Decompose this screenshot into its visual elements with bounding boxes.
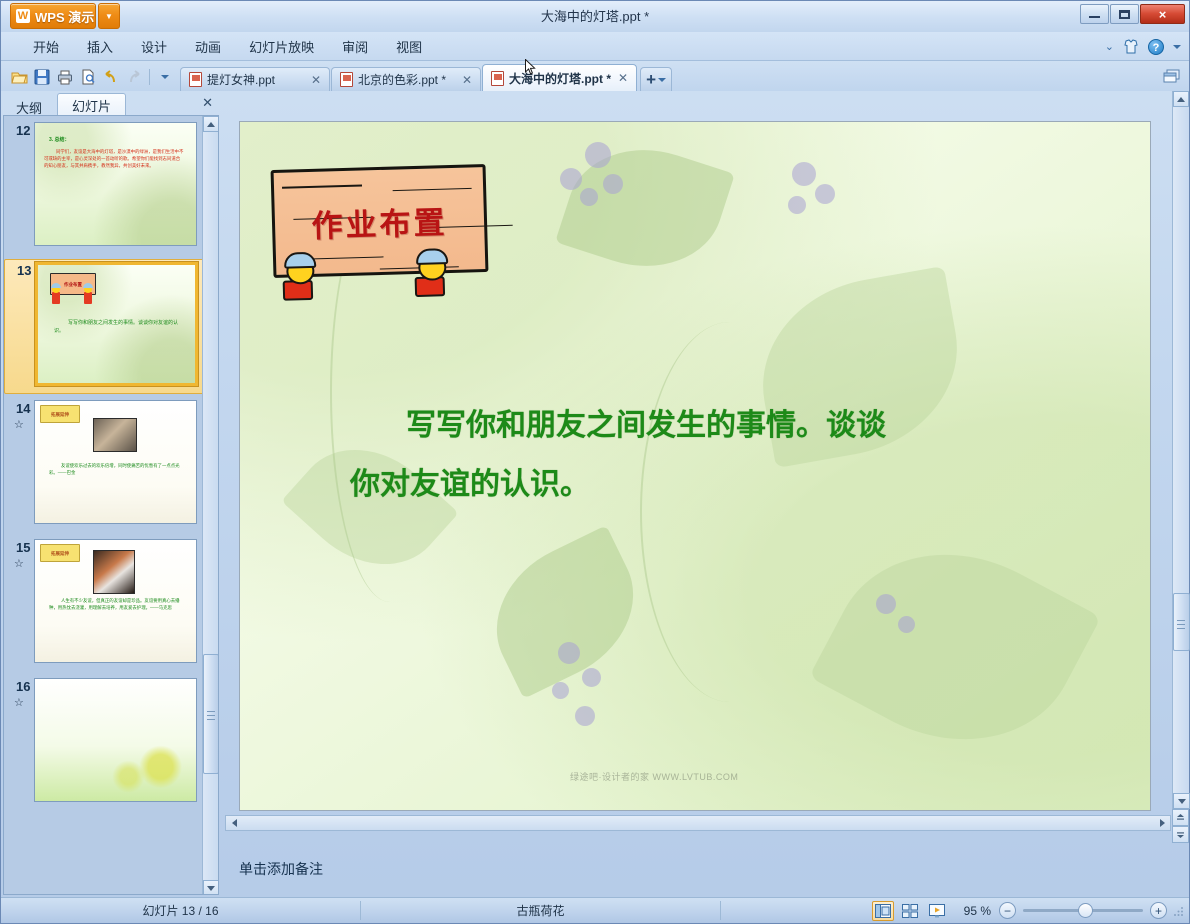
ppt-file-icon <box>189 72 202 87</box>
slide-vertical-scrollbar[interactable] <box>1172 91 1189 843</box>
view-buttons <box>872 901 948 921</box>
dropdown-arrow-icon[interactable] <box>1173 45 1181 49</box>
theme-name: 古瓶荷花 <box>361 901 721 920</box>
grape-decor-icon <box>585 142 611 168</box>
new-tab-dropdown-icon[interactable] <box>658 78 666 82</box>
slide-nav-buttons <box>1172 809 1189 843</box>
open-icon[interactable] <box>9 67 29 87</box>
zoom-level-label: 95 % <box>964 904 991 918</box>
wps-brand-label: WPS 演示 <box>35 7 94 26</box>
grape-decor-icon <box>815 184 835 204</box>
thumbnail-body: 写写你和朋友之间发生的事情。谈谈你对友谊的认识。 <box>54 320 184 336</box>
scroll-down-button[interactable] <box>203 880 219 895</box>
thumbnail-kid-right-icon <box>84 292 92 304</box>
slide-sorter-view-icon <box>902 904 918 918</box>
window-controls: × <box>1080 4 1185 24</box>
thumbnail-photo <box>93 550 135 594</box>
leaf-decor-icon <box>471 525 658 699</box>
menu-items: 开始 插入 设计 动画 幻灯片放映 审阅 视图 <box>1 32 1189 61</box>
thumbnail-animation-icon: ☆ <box>14 559 24 570</box>
maximize-button[interactable] <box>1110 4 1139 24</box>
scrollbar-thumb[interactable] <box>1173 593 1190 651</box>
slide-sorter-view-button[interactable] <box>899 901 921 921</box>
menu-item-insert[interactable]: 插入 <box>73 33 127 60</box>
grape-decor-icon <box>558 642 580 664</box>
minimize-button[interactable] <box>1080 4 1109 24</box>
triangle-up-icon <box>207 122 215 127</box>
document-tab-3[interactable]: 大海中的灯塔.ppt * ✕ <box>482 64 637 91</box>
print-icon[interactable] <box>55 67 75 87</box>
thumbnail-body: 友谊使欢乐过去的欢乐倍增，同时使痛苦的忧愁有了一点点光彩。——巴金 <box>49 463 183 477</box>
thumbnail-body: 人生有不少友谊，但真正的友谊却是珍品。友谊要用真心去播种，用热忱去浇灌，用理解去… <box>49 598 183 612</box>
close-pane-icon[interactable]: ✕ <box>202 95 213 111</box>
slides-pane-scrollbar[interactable] <box>202 116 218 895</box>
mouse-cursor-icon <box>525 59 536 75</box>
tab-slides[interactable]: 幻灯片 <box>57 93 126 117</box>
slide-watermark: 绿途吧·设计者的家 WWW.LVTUB.COM <box>570 770 800 784</box>
slide-body-textbox[interactable]: 写写你和朋友之间发生的事情。谈谈 你对友谊的认识。 <box>350 397 1050 514</box>
thumbnail-heading: 3. 总结： <box>49 136 70 143</box>
thumbnail-item-16[interactable]: 16 ☆ <box>4 676 204 811</box>
thumbnail-number: 15 <box>16 540 30 555</box>
new-tab-button[interactable]: + <box>640 67 672 91</box>
notes-placeholder: 单击添加备注 <box>239 859 323 879</box>
document-tab-3-close-icon[interactable]: ✕ <box>616 71 630 85</box>
thumbnail-sign: 拓展延伸 <box>40 544 80 562</box>
thumbnail-item-12[interactable]: 12 3. 总结： 同学们，友谊是大海中的灯塔，是沙漠中的绿洲，是我们生活中不可… <box>4 120 204 255</box>
next-slide-button[interactable] <box>1172 826 1189 843</box>
grape-decor-icon <box>580 188 598 206</box>
thumbnail-animation-icon: ☆ <box>14 420 24 431</box>
menu-item-review[interactable]: 审阅 <box>328 33 382 60</box>
kid-right-icon <box>416 248 451 297</box>
menu-item-design[interactable]: 设计 <box>127 33 181 60</box>
thumbnail-sign: 拓展延伸 <box>40 405 80 423</box>
scroll-up-button[interactable] <box>203 116 219 132</box>
plus-icon: + <box>646 73 656 87</box>
undo-icon[interactable] <box>101 67 121 87</box>
normal-view-icon <box>875 904 891 918</box>
triangle-right-icon <box>1160 819 1165 827</box>
thumbnail-preview: 3. 总结： 同学们，友谊是大海中的灯塔，是沙漠中的绿洲，是我们生活中不可或缺的… <box>34 122 197 246</box>
customize-quick-access-icon[interactable] <box>155 67 175 87</box>
wps-brand-button[interactable]: W WPS 演示 <box>10 3 96 29</box>
thumbnail-kid-left-icon <box>52 292 60 304</box>
grape-decor-icon <box>575 706 595 726</box>
previous-slide-button[interactable] <box>1172 809 1189 826</box>
grape-decor-icon <box>582 668 601 687</box>
grape-decor-icon <box>560 168 582 190</box>
scroll-right-button[interactable] <box>1154 816 1170 830</box>
title-bar: 大海中的灯塔.ppt * W WPS 演示 ▼ × <box>1 1 1189 32</box>
wps-logo-icon: W <box>16 9 30 23</box>
slide-body-line-1: 写写你和朋友之间发生的事情。谈谈 <box>350 397 1050 456</box>
close-icon: × <box>1159 7 1167 22</box>
wps-menu-dropdown-icon[interactable]: ▼ <box>98 3 120 29</box>
thumbnail-item-15[interactable]: 15 ☆ 拓展延伸 人生有不少友谊，但真正的友谊却是珍品。友谊要用真心去播种，用… <box>4 537 204 672</box>
zoom-slider-handle[interactable] <box>1078 903 1093 918</box>
slide-editing-area: 作业布置 写写你和朋友之间发生的事情。谈谈 你对友谊的认识。 绿途吧·设计者的家… <box>225 91 1189 843</box>
document-tab-2[interactable]: 北京的色彩.ppt * ✕ <box>331 67 481 91</box>
thumbnail-number: 14 <box>16 401 30 416</box>
slide-body-line-2: 你对友谊的认识。 <box>350 456 1050 515</box>
close-button[interactable]: × <box>1140 4 1185 24</box>
thumbnail-preview: 拓展延伸 人生有不少友谊，但真正的友谊却是珍品。友谊要用真心去播种，用热忱去浇灌… <box>34 539 197 663</box>
leaf-decor-icon <box>555 128 735 288</box>
document-tab-1-close-icon[interactable]: ✕ <box>309 73 323 87</box>
notes-pane[interactable]: 单击添加备注 <box>225 845 1189 893</box>
slide-counter: 幻灯片 13 / 16 <box>1 901 361 920</box>
zoom-slider[interactable] <box>1023 909 1143 912</box>
status-bar: 幻灯片 13 / 16 古瓶荷花 <box>1 897 1189 923</box>
thumbnail-number: 12 <box>16 123 30 138</box>
document-tab-2-close-icon[interactable]: ✕ <box>460 73 474 87</box>
chevron-down-icon[interactable]: ⌄ <box>1105 40 1114 53</box>
grape-decor-icon <box>898 616 915 633</box>
grape-decor-icon <box>876 594 896 614</box>
document-tab-1[interactable]: 提灯女神.ppt ✕ <box>180 67 330 91</box>
minimize-icon <box>1089 16 1100 18</box>
slides-pane: 大纲 幻灯片 ✕ 12 3. 总结： 同学们，友谊是大海中的灯塔，是沙漠中的绿洲… <box>1 91 221 897</box>
pane-tabs: 大纲 幻灯片 <box>1 91 221 117</box>
thumbnail-items: 12 3. 总结： 同学们，友谊是大海中的灯塔，是沙漠中的绿洲，是我们生活中不可… <box>4 116 204 815</box>
scrollbar-thumb[interactable] <box>203 654 219 774</box>
ppt-file-icon <box>491 71 504 86</box>
skin-icon[interactable] <box>1123 39 1139 54</box>
workspace: 大纲 幻灯片 ✕ 12 3. 总结： 同学们，友谊是大海中的灯塔，是沙漠中的绿洲… <box>1 91 1189 897</box>
menubar-right-icons: ⌄ ? <box>1105 32 1181 61</box>
scroll-left-button[interactable] <box>226 816 242 830</box>
thumbnail-animation-icon: ☆ <box>14 698 24 709</box>
menu-item-animation[interactable]: 动画 <box>181 33 235 60</box>
zoom-out-button[interactable]: − <box>999 902 1016 919</box>
redo-icon[interactable] <box>124 67 144 87</box>
thumbnail-list[interactable]: 12 3. 总结： 同学们，友谊是大海中的灯塔，是沙漠中的绿洲，是我们生活中不可… <box>3 115 219 895</box>
restore-window-icon <box>1163 69 1181 83</box>
help-icon[interactable]: ? <box>1148 39 1164 55</box>
grape-decor-icon <box>603 174 623 194</box>
document-tab-2-label: 北京的色彩.ppt * <box>358 71 455 88</box>
slideshow-view-button[interactable] <box>926 901 948 921</box>
thumbnail-preview: 拓展延伸 友谊使欢乐过去的欢乐倍增，同时使痛苦的忧愁有了一点点光彩。——巴金 <box>34 400 197 524</box>
window-title: 大海中的灯塔.ppt * <box>1 1 1189 32</box>
menu-item-start[interactable]: 开始 <box>19 33 73 60</box>
slide-canvas[interactable]: 作业布置 写写你和朋友之间发生的事情。谈谈 你对友谊的认识。 绿途吧·设计者的家… <box>239 121 1151 811</box>
save-icon[interactable] <box>32 67 52 87</box>
thumbnail-background <box>35 679 196 801</box>
thumbnail-number: 16 <box>16 679 30 694</box>
document-tab-1-label: 提灯女神.ppt <box>207 71 304 88</box>
grape-decor-icon <box>788 196 806 214</box>
slide-title: 作业布置 <box>311 197 448 246</box>
zoom-in-button[interactable]: + <box>1150 902 1167 919</box>
status-filler <box>721 901 872 920</box>
leaf-decor-icon <box>809 509 1101 785</box>
grape-decor-icon <box>792 162 816 186</box>
kid-left-icon <box>284 252 319 301</box>
scroll-down-button[interactable] <box>1173 793 1190 809</box>
thumbnail-preview: 作业布置 写写你和朋友之间发生的事情。谈谈你对友谊的认识。 <box>35 262 198 386</box>
grape-decor-icon <box>552 682 569 699</box>
tab-outline[interactable]: 大纲 <box>1 96 57 117</box>
scroll-up-button[interactable] <box>1173 91 1189 107</box>
thumbnail-photo <box>93 418 137 452</box>
quick-access-toolbar <box>1 67 180 91</box>
slide-horizontal-scrollbar[interactable] <box>225 815 1171 831</box>
homework-sign[interactable]: 作业布置 <box>271 164 489 278</box>
triangle-down-icon <box>207 886 215 891</box>
menu-item-view[interactable]: 视图 <box>382 33 436 60</box>
thumbnail-item-14[interactable]: 14 ☆ 拓展延伸 友谊使欢乐过去的欢乐倍增，同时使痛苦的忧愁有了一点点光彩。—… <box>4 398 204 533</box>
normal-view-button[interactable] <box>872 901 894 921</box>
resize-grip-icon[interactable] <box>1173 905 1185 917</box>
triangle-up-icon <box>1177 97 1185 102</box>
ppt-file-icon <box>340 72 353 87</box>
wps-presentation-window: 大海中的灯塔.ppt * W WPS 演示 ▼ × 开始 插入 设计 动画 幻灯… <box>0 0 1190 924</box>
triangle-left-icon <box>232 819 237 827</box>
document-tabs-bar: 提灯女神.ppt ✕ 北京的色彩.ppt * ✕ 大海中的灯塔.ppt * ✕ … <box>1 61 1189 91</box>
thumbnail-item-13[interactable]: 13 作业布置 写写你和朋友之间发生的事情。谈谈你对友谊的认识。 <box>4 259 204 394</box>
thumbnail-number: 13 <box>17 263 31 278</box>
triangle-down-icon <box>1178 799 1186 804</box>
menu-bar: 开始 插入 设计 动画 幻灯片放映 审阅 视图 ⌄ ? <box>1 32 1189 61</box>
document-tabs: 提灯女神.ppt ✕ 北京的色彩.ppt * ✕ 大海中的灯塔.ppt * ✕ … <box>180 61 672 91</box>
menu-item-slideshow[interactable]: 幻灯片放映 <box>235 33 328 60</box>
toolbar-separator <box>149 69 150 85</box>
thumbnail-body: 同学们，友谊是大海中的灯塔，是沙漠中的绿洲，是我们生活中不可或缺的主宰，是心灵深… <box>44 149 184 169</box>
print-preview-icon[interactable] <box>78 67 98 87</box>
maximize-icon <box>1119 10 1130 19</box>
restore-window-button[interactable] <box>1161 66 1183 86</box>
slideshow-view-icon <box>929 904 945 918</box>
thumbnail-preview <box>34 678 197 802</box>
